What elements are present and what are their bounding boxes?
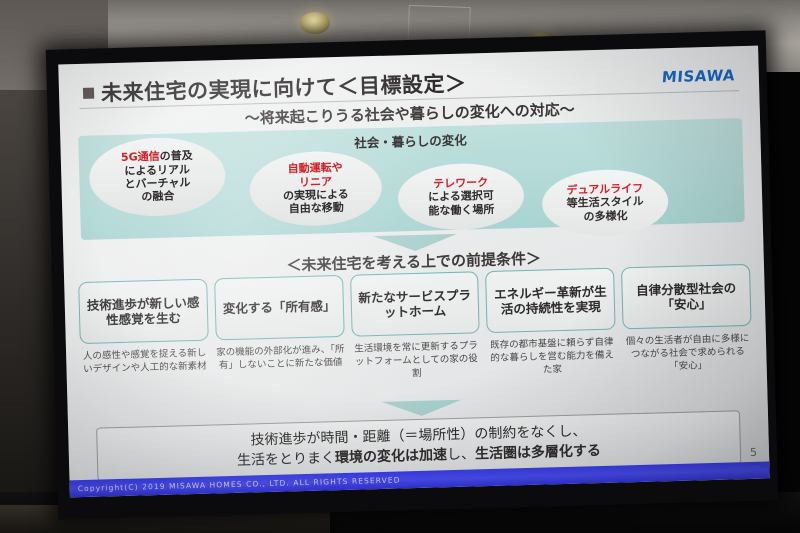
change-highlight: テレワーク — [433, 176, 488, 190]
conclusion-emphasis: 生活圏は多層化する — [475, 443, 601, 462]
premise-heading: 技術進歩が新しい感性感覚を生む — [78, 279, 208, 344]
change-text: の多様化 — [583, 209, 627, 223]
change-text: 自由な移動 — [289, 201, 344, 215]
premise-heading: 新たなサービスプラットホーム — [350, 271, 480, 336]
downlight-icon — [300, 12, 330, 34]
premise-description: 個々の生活者が自由に多様につながる社会で求められる「安心」 — [623, 333, 753, 375]
change-text: とバーチャル — [124, 176, 190, 191]
premise-heading: 自律分散型社会の「安心」 — [621, 264, 751, 329]
premise-card: 自律分散型社会の「安心」 個々の生活者が自由に多様につながる社会で求められる「安… — [621, 264, 753, 375]
page-number: 5 — [750, 446, 757, 459]
premise-card-list: 技術進歩が新しい感性感覚を生む 人の感性や感覚を捉える新しいデザインや人工的な新… — [78, 264, 753, 390]
change-text: の融合 — [141, 190, 174, 204]
change-text: 等生活スタイル — [567, 195, 644, 210]
premise-heading: エネルギー革新が生活の持続性を実現 — [485, 268, 615, 333]
premise-description: 人の感性や感覚を捉える新しいデザインや人工的な新素材 — [80, 348, 209, 377]
conclusion-emphasis: 環境の変化は加速 — [335, 447, 447, 466]
projected-slide: 未来住宅の実現に向けて＜目標設定＞ MISAWA ～将来起こりうる社会や暮らしの… — [58, 46, 769, 498]
misawa-logo: MISAWA — [661, 66, 736, 86]
arrow-down-icon — [382, 400, 462, 417]
photographed-presentation-screen: 未来住宅の実現に向けて＜目標設定＞ MISAWA ～将来起こりうる社会や暮らしの… — [0, 0, 800, 533]
conclusion-text: 生活をとりまく — [237, 450, 335, 469]
premise-description: 既存の都市基盤に頼らず自律的な暮らしを営む能力を備えた家 — [487, 337, 617, 379]
square-bullet-icon — [83, 87, 94, 98]
premise-card: 技術進歩が新しい感性感覚を生む 人の感性や感覚を捉える新しいデザインや人工的な新… — [78, 279, 210, 390]
change-text: によるリアル — [124, 163, 190, 178]
change-text: 能な働く場所 — [428, 203, 494, 218]
premise-description: 家の機能の外部化が進み、「所有」しないことに新たな価値 — [216, 344, 345, 373]
premise-heading: 変化する「所有感」 — [214, 275, 344, 340]
premise-card: 変化する「所有感」 家の機能の外部化が進み、「所有」しないことに新たな価値 — [214, 275, 346, 386]
premise-description: 生活環境を常に更新するプラットフォームとしての家の役割 — [352, 340, 482, 382]
premise-card: エネルギー革新が生活の持続性を実現 既存の都市基盤に頼らず自律的な暮らしを営む能… — [485, 268, 617, 379]
conclusion-text: し、 — [447, 446, 475, 463]
change-highlight: 自動運転や — [287, 161, 342, 175]
premise-card: 新たなサービスプラットホーム 生活環境を常に更新するプラットフォームとしての家の… — [350, 271, 482, 382]
change-highlight: リニア — [299, 175, 332, 189]
page-title-text: 未来住宅の実現に向けて＜目標設定＞ — [101, 68, 467, 108]
change-text: による選択可 — [428, 189, 494, 204]
